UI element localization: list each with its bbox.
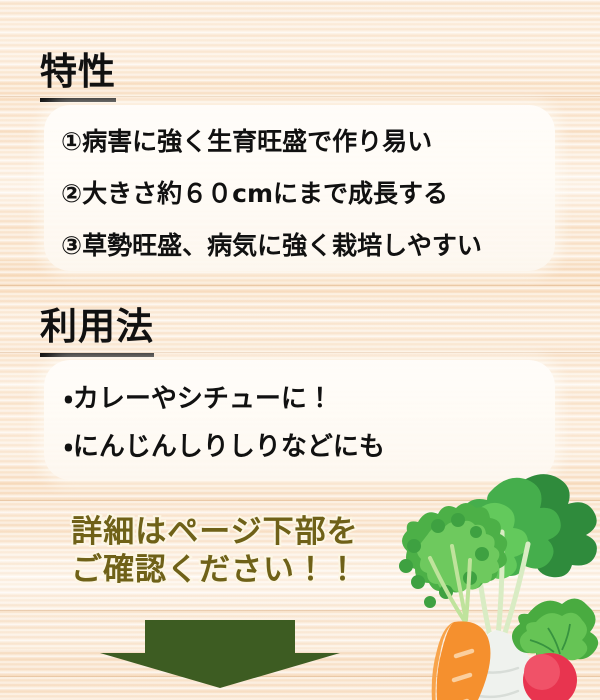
list-item: ①病害に強く生育旺盛で作り易い <box>61 122 432 158</box>
list-item: ②大きさ約６０cmにまで成長する <box>61 174 448 210</box>
carrot-body <box>432 621 491 700</box>
vegetables-illustration <box>378 462 600 700</box>
product-info-panel: 特性 ①病害に強く生育旺盛で作り易い ②大きさ約６０cmにまで成長する ③草勢旺… <box>0 0 600 700</box>
list-item: ・にんじんしりしりなどにも <box>64 426 385 463</box>
cta-line-2: ご確認ください！！ <box>0 552 430 590</box>
list-item: ・カレーやシチューに！ <box>64 378 333 415</box>
list-item: ③草勢旺盛、病気に強く栽培しやすい <box>61 226 482 262</box>
carrot-leaves <box>399 503 507 620</box>
cta-text: 詳細はページ下部を ご確認ください！！ <box>0 514 430 590</box>
section-heading-usage: 利用法 <box>40 296 154 357</box>
characteristics-card: ①病害に強く生育旺盛で作り易い ②大きさ約６０cmにまで成長する ③草勢旺盛、病… <box>44 105 555 271</box>
section-heading-characteristics: 特性 <box>40 41 116 102</box>
red-radish <box>512 598 598 700</box>
down-arrow-icon <box>100 620 340 688</box>
cta-line-1: 詳細はページ下部を <box>0 514 430 552</box>
plank-seam <box>0 285 600 286</box>
